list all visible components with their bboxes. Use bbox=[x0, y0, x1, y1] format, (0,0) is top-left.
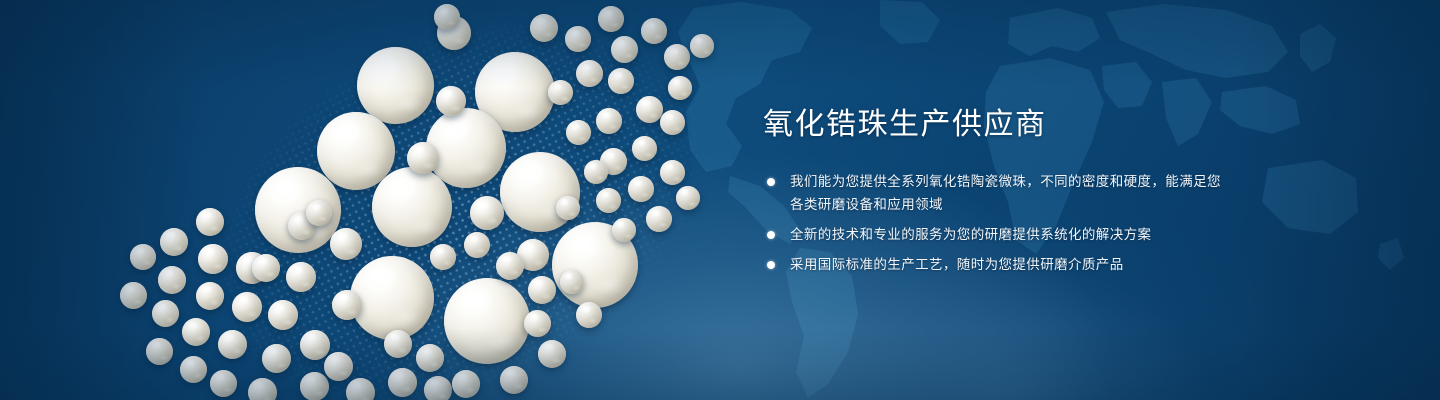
bullet-dot-icon bbox=[767, 178, 775, 186]
hero-banner: 氧化锆珠生产供应商 我们能为您提供全系列氧化锆陶瓷微珠，不同的密度和硬度，能满足… bbox=[0, 0, 1440, 400]
list-item: 全新的技术和专业的服务为您的研磨提供系统化的解决方案 bbox=[763, 224, 1233, 247]
banner-text-block: 氧化锆珠生产供应商 我们能为您提供全系列氧化锆陶瓷微珠，不同的密度和硬度，能满足… bbox=[763, 108, 1233, 284]
bullet-dot-icon bbox=[767, 261, 775, 269]
page-title: 氧化锆珠生产供应商 bbox=[763, 108, 1233, 143]
bullet-dot-icon bbox=[767, 231, 775, 239]
feature-list: 我们能为您提供全系列氧化锆陶瓷微珠，不同的密度和硬度，能满足您各类研磨设备和应用… bbox=[763, 171, 1233, 277]
list-item: 我们能为您提供全系列氧化锆陶瓷微珠，不同的密度和硬度，能满足您各类研磨设备和应用… bbox=[763, 171, 1233, 217]
list-item-label: 采用国际标准的生产工艺，随时为您提供研磨介质产品 bbox=[790, 257, 1124, 273]
list-item-label: 全新的技术和专业的服务为您的研磨提供系统化的解决方案 bbox=[790, 227, 1151, 243]
list-item: 采用国际标准的生产工艺，随时为您提供研磨介质产品 bbox=[763, 254, 1233, 277]
list-item-label: 我们能为您提供全系列氧化锆陶瓷微珠，不同的密度和硬度，能满足您各类研磨设备和应用… bbox=[790, 174, 1221, 213]
